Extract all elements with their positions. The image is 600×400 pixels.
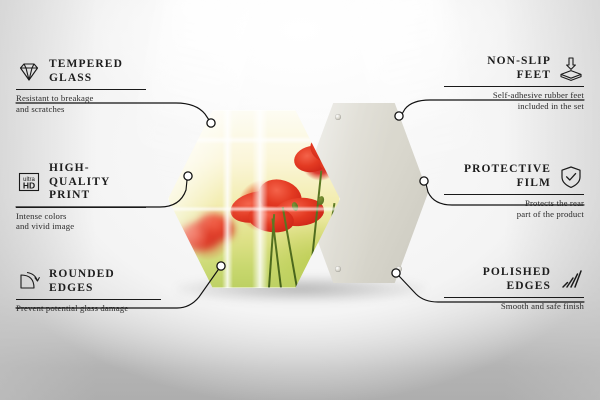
press-down-pad-icon [558, 56, 584, 82]
feature-polished-edges: POLISHED EDGES Smooth and safe finish [444, 266, 584, 312]
rubber-foot [396, 266, 402, 272]
feature-tempered-glass: TEMPERED GLASS Resistant to breakage and… [16, 58, 146, 114]
ultra-hd-icon: ultra HD [16, 169, 42, 195]
feature-divider [444, 86, 584, 87]
front-panel-edge [168, 110, 340, 288]
feature-non-slip-feet: NON-SLIP FEET Self-adhesive rubber feet … [444, 55, 584, 111]
feature-rounded-edges: ROUNDED EDGES Prevent potential glass da… [16, 268, 161, 314]
diagonal-lines-icon [558, 267, 584, 293]
feature-header: POLISHED EDGES [444, 266, 584, 293]
feature-header: TEMPERED GLASS [16, 58, 146, 85]
feature-description-line1: Self-adhesive rubber feet [444, 90, 584, 101]
feature-title: PROTECTIVE FILM [444, 163, 551, 190]
feature-description-line1: Intense colors [16, 211, 146, 222]
feature-title: POLISHED EDGES [444, 266, 551, 293]
feature-title: ROUNDED EDGES [49, 268, 115, 295]
feature-header: PROTECTIVE FILM [444, 163, 584, 190]
feature-divider [16, 89, 146, 90]
diamond-icon [16, 59, 42, 85]
rubber-foot [396, 114, 402, 120]
feature-header: ultra HD HIGH-QUALITY PRINT [16, 162, 146, 203]
ultra-hd-icon-bottom-text: HD [23, 181, 35, 191]
feature-divider [16, 299, 161, 300]
feature-description-line2: part of the product [444, 209, 584, 220]
infographic-canvas: TEMPERED GLASS Resistant to breakage and… [0, 0, 600, 400]
rubber-foot [335, 266, 341, 272]
rubber-foot [335, 114, 341, 120]
feature-title: NON-SLIP FEET [444, 55, 551, 82]
rubber-foot [421, 179, 427, 185]
feature-description-line2: and vivid image [16, 221, 146, 232]
rounded-corner-icon [16, 269, 42, 295]
feature-description-line1: Smooth and safe finish [444, 301, 584, 312]
feature-header: ROUNDED EDGES [16, 268, 161, 295]
feature-title: TEMPERED GLASS [49, 58, 123, 85]
feature-description-line1: Resistant to breakage [16, 93, 146, 104]
feature-title: HIGH-QUALITY PRINT [49, 162, 146, 203]
feature-high-quality-print: ultra HD HIGH-QUALITY PRINT Intense colo… [16, 162, 146, 232]
feature-protective-film: PROTECTIVE FILM Protects the rear part o… [444, 163, 584, 219]
feature-description-line1: Protects the rear [444, 198, 584, 209]
feature-description-line1: Prevent potential glass damage [16, 303, 161, 314]
feature-description-line2: and scratches [16, 104, 146, 115]
feature-description-line2: included in the set [444, 101, 584, 112]
feature-divider [444, 194, 584, 195]
shield-check-icon [558, 164, 584, 190]
feature-divider [16, 207, 146, 208]
feature-header: NON-SLIP FEET [444, 55, 584, 82]
feature-divider [444, 297, 584, 298]
